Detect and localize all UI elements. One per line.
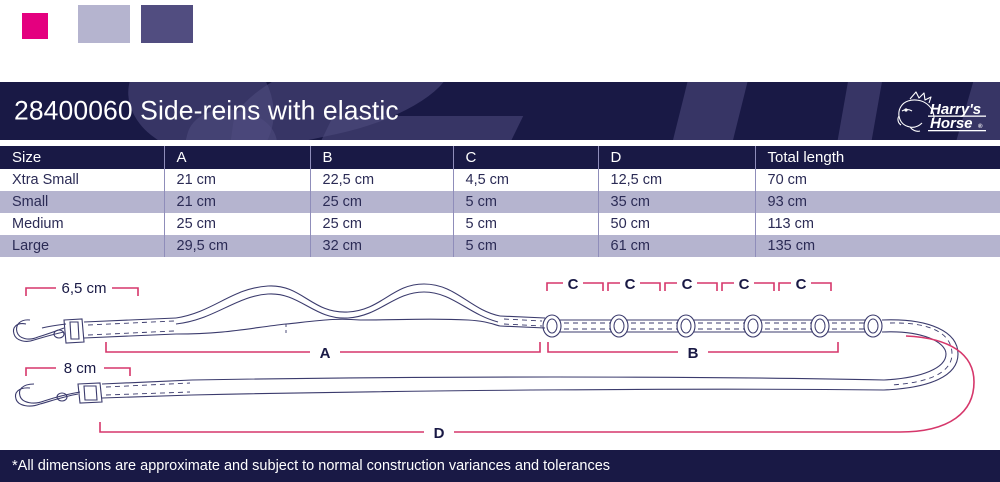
cell-b: 25 cm	[310, 213, 453, 235]
color-swatch-strip	[0, 0, 1000, 52]
cell-a: 29,5 cm	[164, 235, 310, 257]
cell-c: 5 cm	[453, 191, 598, 213]
table-header-row: Size A B C D Total length	[0, 146, 1000, 169]
column-header-b: B	[310, 146, 453, 169]
cell-b: 22,5 cm	[310, 169, 453, 191]
dim-label-a: A	[320, 345, 331, 362]
cell-size: Xtra Small	[0, 169, 164, 191]
watermark-shape	[668, 82, 753, 140]
dim-label-d: D	[434, 425, 445, 442]
cell-total: 93 cm	[755, 191, 1000, 213]
cell-d: 35 cm	[598, 191, 755, 213]
cell-c: 4,5 cm	[453, 169, 598, 191]
product-diagram: 6,5 cm 8 cm C C C C C A B D	[0, 262, 1000, 448]
cell-size: Medium	[0, 213, 164, 235]
column-header-size: Size	[0, 146, 164, 169]
cell-d: 50 cm	[598, 213, 755, 235]
svg-text:®: ®	[978, 123, 983, 130]
title-band: 28400060 Side-reins with elastic Harry's…	[0, 82, 1000, 140]
harrys-horse-logo: Harry's Horse ®	[886, 89, 990, 135]
column-header-c: C	[453, 146, 598, 169]
table-row: Small 21 cm 25 cm 5 cm 35 cm 93 cm	[0, 191, 1000, 213]
adjustment-ring-chain	[543, 315, 882, 337]
table-row: Large 29,5 cm 32 cm 5 cm 61 cm 135 cm	[0, 235, 1000, 257]
cell-b: 25 cm	[310, 191, 453, 213]
rein-loop-right	[882, 320, 958, 390]
swatch-magenta	[22, 13, 48, 39]
column-header-a: A	[164, 146, 310, 169]
cell-b: 32 cm	[310, 235, 453, 257]
page-title: 28400060 Side-reins with elastic	[14, 96, 399, 127]
watermark-shape	[830, 82, 883, 140]
swatch-dark-violet	[141, 5, 193, 43]
dim-label-top-left: 6,5 cm	[61, 280, 106, 297]
cell-c: 5 cm	[453, 213, 598, 235]
column-header-d: D	[598, 146, 755, 169]
dim-label-c: C	[568, 276, 579, 293]
cell-size: Large	[0, 235, 164, 257]
lower-rein-illustration	[16, 377, 884, 406]
cell-a: 25 cm	[164, 213, 310, 235]
dimension-marks	[26, 283, 974, 432]
cell-c: 5 cm	[453, 235, 598, 257]
cell-total: 135 cm	[755, 235, 1000, 257]
footer-note-text: *All dimensions are approximate and subj…	[12, 458, 610, 474]
table-row: Medium 25 cm 25 cm 5 cm 50 cm 113 cm	[0, 213, 1000, 235]
cell-total: 113 cm	[755, 213, 1000, 235]
cell-d: 12,5 cm	[598, 169, 755, 191]
cell-total: 70 cm	[755, 169, 1000, 191]
cell-d: 61 cm	[598, 235, 755, 257]
dim-label-c: C	[739, 276, 750, 293]
dim-label-c: C	[796, 276, 807, 293]
dim-label-c: C	[625, 276, 636, 293]
cell-size: Small	[0, 191, 164, 213]
cell-a: 21 cm	[164, 169, 310, 191]
spec-sheet: 28400060 Side-reins with elastic Harry's…	[0, 0, 1000, 482]
table-row: Xtra Small 21 cm 22,5 cm 4,5 cm 12,5 cm …	[0, 169, 1000, 191]
dim-label-b: B	[688, 345, 699, 362]
svg-text:Horse: Horse	[930, 115, 973, 132]
swatch-light-lilac	[78, 5, 130, 43]
specifications-table: Size A B C D Total length Xtra Small 21 …	[0, 146, 1000, 257]
dim-label-c: C	[682, 276, 693, 293]
cell-a: 21 cm	[164, 191, 310, 213]
column-header-total: Total length	[755, 146, 1000, 169]
dim-label-lower-left: 8 cm	[64, 360, 97, 377]
footer-note: *All dimensions are approximate and subj…	[0, 450, 1000, 482]
